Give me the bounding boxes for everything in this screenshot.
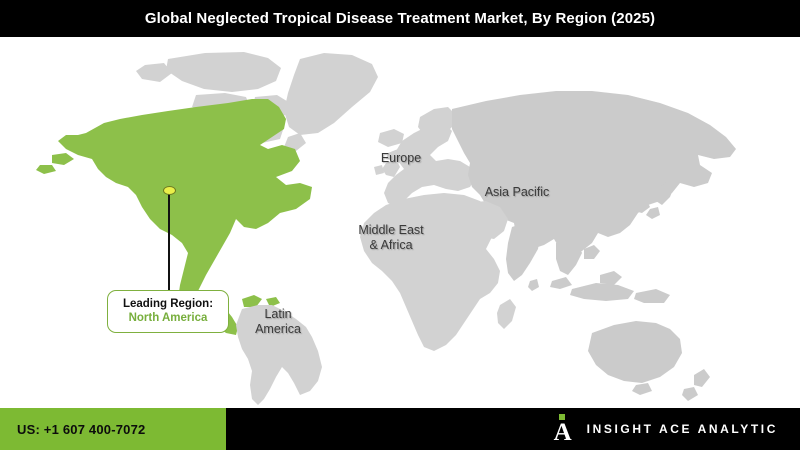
map-region-new-zealand (682, 369, 710, 401)
world-map-svg (0, 37, 800, 408)
map-region-south-america (236, 305, 322, 405)
map-region-indonesia (550, 271, 670, 303)
world-map-stage: Europe Asia Pacific Middle East & Africa… (0, 37, 800, 408)
map-region-india (506, 223, 540, 281)
brand-logo-icon: A (552, 414, 574, 444)
callout-pointer-marker-icon (163, 186, 176, 195)
brand-name-text: INSIGHT ACE ANALYTIC (587, 422, 778, 436)
map-region-madagascar (497, 299, 516, 329)
callout-value: North America (129, 312, 208, 325)
map-region-greenland (284, 53, 378, 135)
map-region-british-isles (374, 159, 400, 177)
map-region-southeast-asia (556, 239, 600, 275)
brand-lockup: A INSIGHT ACE ANALYTIC (552, 408, 778, 450)
infographic-root: Global Neglected Tropical Disease Treatm… (0, 0, 800, 450)
footer-bar: US: +1 607 400-7072 A INSIGHT ACE ANALYT… (0, 408, 800, 450)
map-region-sri-lanka (528, 279, 539, 291)
map-region-alaska-peninsula (36, 153, 74, 174)
footer-phone-number[interactable]: US: +1 607 400-7072 (17, 422, 145, 437)
map-region-north-america-highlight (58, 99, 312, 305)
callout-title: Leading Region: (123, 298, 213, 311)
brand-logo-letter: A (552, 421, 574, 444)
footer-contact-block: US: +1 607 400-7072 (0, 408, 226, 450)
map-region-australia (588, 321, 682, 395)
title-bar: Global Neglected Tropical Disease Treatm… (0, 0, 800, 37)
page-title: Global Neglected Tropical Disease Treatm… (145, 10, 655, 27)
leading-region-callout: Leading Region: North America (107, 290, 229, 333)
callout-pointer-line (168, 190, 170, 291)
